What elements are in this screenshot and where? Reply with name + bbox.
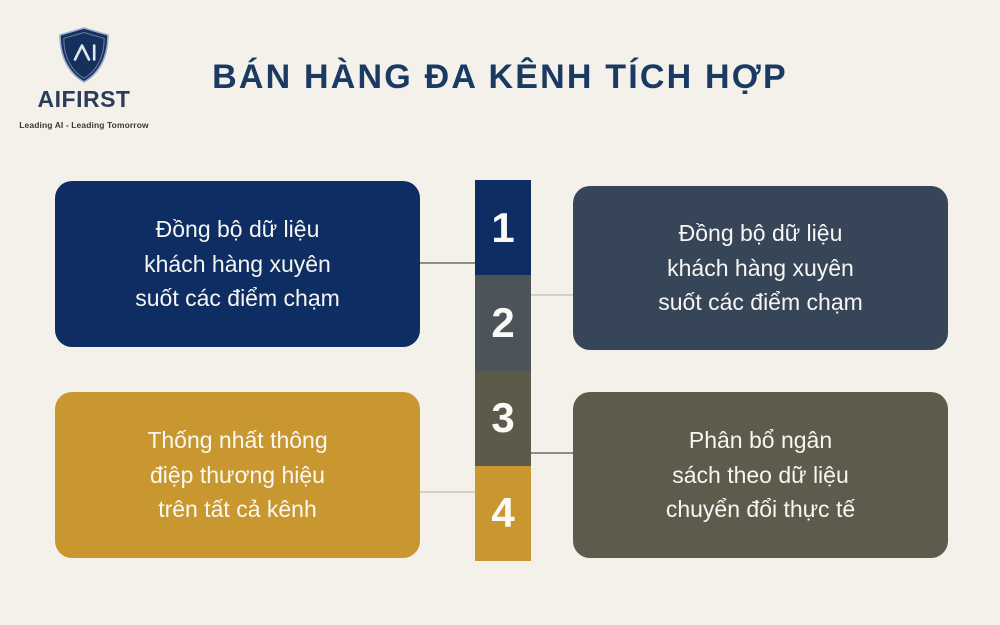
- card-2-text: Đồng bộ dữ liệu khách hàng xuyên suốt cá…: [658, 216, 863, 321]
- card-4-text: Phân bổ ngân sách theo dữ liệu chuyển đổ…: [666, 423, 855, 528]
- card-3[interactable]: Thống nhất thông điệp thương hiệu trên t…: [55, 392, 420, 558]
- card-2[interactable]: Đồng bộ dữ liệu khách hàng xuyên suốt cá…: [573, 186, 948, 350]
- connector-2-to-card-2: [530, 294, 575, 296]
- infographic-canvas: AIFIRST Leading AI - Leading Tomorrow BÁ…: [0, 0, 1000, 625]
- step-number-spine: 1 2 3 4: [475, 180, 531, 561]
- spine-number-2: 2: [491, 302, 514, 344]
- spine-segment-2[interactable]: 2: [475, 275, 531, 370]
- spine-segment-1[interactable]: 1: [475, 180, 531, 275]
- spine-number-3: 3: [491, 397, 514, 439]
- spine-number-1: 1: [491, 207, 514, 249]
- card-4[interactable]: Phân bổ ngân sách theo dữ liệu chuyển đổ…: [573, 392, 948, 558]
- connector-3-to-card-4: [530, 452, 575, 454]
- spine-segment-4[interactable]: 4: [475, 466, 531, 561]
- brand-tagline: Leading AI - Leading Tomorrow: [18, 120, 150, 130]
- connector-1-to-card-1: [420, 262, 476, 264]
- card-3-text: Thống nhất thông điệp thương hiệu trên t…: [147, 423, 327, 528]
- card-1[interactable]: Đồng bộ dữ liệu khách hàng xuyên suốt cá…: [55, 181, 420, 347]
- spine-number-4: 4: [491, 492, 514, 534]
- spine-segment-3[interactable]: 3: [475, 371, 531, 466]
- page-title: BÁN HÀNG ĐA KÊNH TÍCH HỢP: [0, 58, 1000, 97]
- card-1-text: Đồng bộ dữ liệu khách hàng xuyên suốt cá…: [135, 212, 340, 317]
- connector-4-to-card-3: [420, 491, 476, 493]
